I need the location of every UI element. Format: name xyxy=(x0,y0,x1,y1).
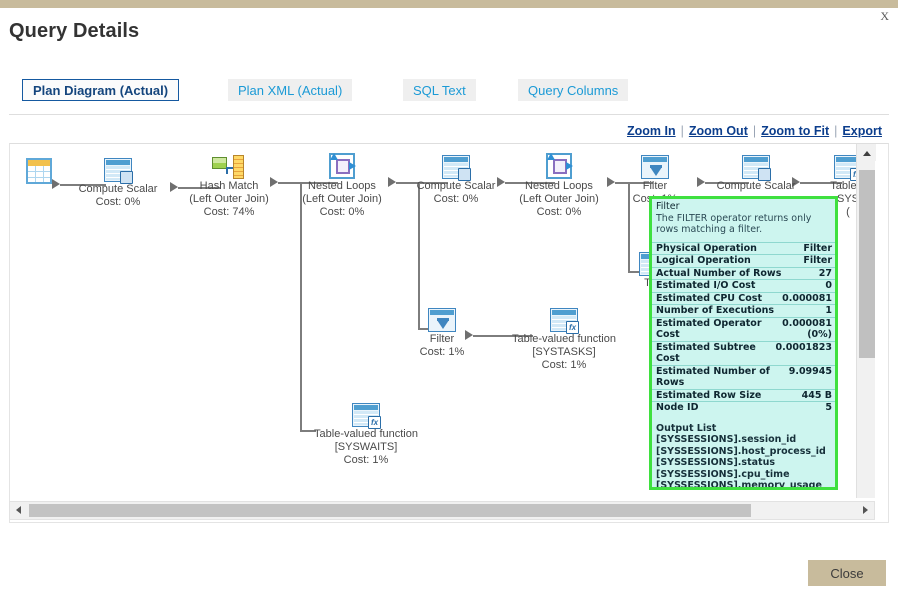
horizontal-scrollbar[interactable] xyxy=(9,501,875,520)
tooltip-metric-row: Estimated Row Size445 B xyxy=(652,389,835,402)
metric-label: Number of Executions xyxy=(656,305,774,317)
metric-label: Logical Operation xyxy=(656,255,751,267)
metric-value: 0.0001823 xyxy=(776,342,833,365)
metric-value: 445 B xyxy=(802,390,832,402)
tab-sql-text[interactable]: SQL Text xyxy=(403,79,476,101)
page-title: Query Details xyxy=(9,20,139,43)
operator-tooltip: Filter The FILTER operator returns only … xyxy=(649,196,838,490)
metric-label: Actual Number of Rows xyxy=(656,268,781,280)
tab-label: Query Columns xyxy=(528,83,618,98)
node-cost: Cost: 1% xyxy=(382,346,502,359)
plan-node-nested-loops-1[interactable]: Nested Loops (Left Outer Join) Cost: 0% xyxy=(282,149,402,219)
node-icon-wrap: fx xyxy=(296,397,436,427)
node-title: Hash Match xyxy=(169,180,289,193)
metric-value: 5 xyxy=(825,402,832,414)
export-link[interactable]: Export xyxy=(838,124,886,138)
compute-scalar-icon xyxy=(442,155,470,179)
hash-match-icon xyxy=(212,155,246,179)
node-title: Compute Scalar xyxy=(396,180,516,193)
node-cost: Cost: 0% xyxy=(58,196,178,209)
tooltip-metric-row: Actual Number of Rows27 xyxy=(652,267,835,280)
vertical-scrollbar[interactable] xyxy=(856,144,875,498)
metric-value: 1 xyxy=(825,305,832,317)
metric-label: Estimated Operator Cost xyxy=(656,318,767,341)
node-subtitle: [SYSTASKS] xyxy=(494,346,634,359)
zoom-out-link[interactable]: Zoom Out xyxy=(685,124,752,138)
node-icon-wrap xyxy=(382,302,502,332)
filter-icon xyxy=(428,308,456,332)
tab-query-columns[interactable]: Query Columns xyxy=(518,79,628,101)
tooltip-metrics: Physical OperationFilter Logical Operati… xyxy=(652,242,835,414)
window-accent-bar xyxy=(0,0,898,8)
node-title: Table-valued function xyxy=(494,333,634,346)
node-icon-wrap xyxy=(282,149,402,179)
table-valued-function-icon: fx xyxy=(550,308,578,332)
node-subtitle: (Left Outer Join) xyxy=(169,193,289,206)
tooltip-metric-row: Estimated I/O Cost0 xyxy=(652,279,835,292)
tooltip-metric-row: Physical OperationFilter xyxy=(652,242,835,255)
metric-label: Estimated I/O Cost xyxy=(656,280,755,292)
metric-label: Estimated Number of Rows xyxy=(656,366,789,389)
zoom-to-fit-link[interactable]: Zoom to Fit xyxy=(757,124,833,138)
close-icon[interactable]: X xyxy=(880,10,889,22)
compute-scalar-icon xyxy=(742,155,770,179)
tooltip-metric-row: Number of Executions1 xyxy=(652,304,835,317)
connector xyxy=(300,182,302,431)
scroll-right-arrow-icon[interactable] xyxy=(857,502,874,519)
metric-label: Estimated CPU Cost xyxy=(656,293,762,305)
metric-label: Node ID xyxy=(656,402,698,414)
plan-node-filter-2[interactable]: Filter Cost: 1% xyxy=(382,302,502,359)
metric-value: 0 xyxy=(825,280,832,292)
nested-loops-icon xyxy=(329,153,355,179)
node-icon-wrap xyxy=(58,152,178,182)
metric-value: 27 xyxy=(819,268,832,280)
tooltip-metric-row: Node ID5 xyxy=(652,401,835,414)
tooltip-output-item: [SYSSESSIONS].host_process_id xyxy=(652,446,835,458)
node-icon-wrap xyxy=(169,149,289,179)
node-cost: Cost: 0% xyxy=(282,206,402,219)
tooltip-output-item: [SYSSESSIONS].status xyxy=(652,457,835,469)
diagram-toolbar: Zoom In | Zoom Out | Zoom to Fit | Expor… xyxy=(623,124,886,138)
nested-loops-icon xyxy=(546,153,572,179)
tab-divider xyxy=(9,114,889,115)
tooltip-metric-row: Estimated CPU Cost0.000081 xyxy=(652,292,835,305)
node-cost: Cost: 0% xyxy=(396,193,516,206)
tooltip-description: The FILTER operator returns only rows ma… xyxy=(652,213,835,238)
plan-node-table-valued-function-systasks[interactable]: fx Table-valued function [SYSTASKS] Cost… xyxy=(494,302,634,372)
node-title: Table-valued function xyxy=(296,428,436,441)
node-icon-wrap xyxy=(396,149,516,179)
plan-node-hash-match[interactable]: Hash Match (Left Outer Join) Cost: 74% xyxy=(169,149,289,219)
scroll-up-arrow-icon[interactable] xyxy=(857,144,876,161)
node-icon-wrap: fx xyxy=(494,302,634,332)
node-subtitle: (Left Outer Join) xyxy=(282,193,402,206)
tooltip-output-list-title: Output List xyxy=(652,423,835,435)
tooltip-title: Filter xyxy=(652,200,835,213)
node-title: Compute Scalar xyxy=(58,183,178,196)
node-title: Filter xyxy=(382,333,502,346)
zoom-in-link[interactable]: Zoom In xyxy=(623,124,680,138)
filter-icon xyxy=(641,155,669,179)
metric-value: 9.09945 xyxy=(789,366,832,389)
tooltip-metric-row: Estimated Number of Rows9.09945 xyxy=(652,365,835,389)
node-cost: Cost: 1% xyxy=(296,454,436,467)
tab-bar: Plan Diagram (Actual) Plan XML (Actual) … xyxy=(0,79,898,101)
scroll-left-arrow-icon[interactable] xyxy=(10,502,27,519)
plan-node-compute-scalar-2[interactable]: Compute Scalar Cost: 0% xyxy=(396,149,516,206)
plan-node-table-valued-function-syswaits[interactable]: fx Table-valued function [SYSWAITS] Cost… xyxy=(296,397,436,467)
node-cost: Cost: 1% xyxy=(494,359,634,372)
result-grid-icon xyxy=(26,158,52,184)
node-cost: Cost: 0% xyxy=(499,206,619,219)
node-cost: Cost: 74% xyxy=(169,206,289,219)
close-button[interactable]: Close xyxy=(808,560,886,586)
plan-node-compute-scalar-1[interactable]: Compute Scalar Cost: 0% xyxy=(58,152,178,209)
tab-label: Plan XML (Actual) xyxy=(238,83,342,98)
metric-value: Filter xyxy=(803,255,832,267)
tab-plan-diagram[interactable]: Plan Diagram (Actual) xyxy=(22,79,179,101)
tooltip-metric-row: Estimated Operator Cost0.000081 (0%) xyxy=(652,317,835,341)
tab-plan-xml[interactable]: Plan XML (Actual) xyxy=(228,79,352,101)
metric-label: Estimated Subtree Cost xyxy=(656,342,776,365)
tooltip-output-item: [SYSSESSIONS].cpu_time xyxy=(652,469,835,481)
horizontal-scrollbar-thumb[interactable] xyxy=(29,504,751,517)
tooltip-output-item: [SYSSESSIONS].memory_usage xyxy=(652,480,835,490)
metric-value: 0.000081 (0%) xyxy=(767,318,832,341)
metric-value: 0.000081 xyxy=(782,293,832,305)
tooltip-output-item: [SYSSESSIONS].session_id xyxy=(652,434,835,446)
node-title: Nested Loops xyxy=(282,180,402,193)
tab-label: SQL Text xyxy=(413,83,466,98)
vertical-scrollbar-thumb[interactable] xyxy=(859,170,875,358)
metric-value: Filter xyxy=(803,243,832,255)
compute-scalar-icon xyxy=(104,158,132,182)
tooltip-metric-row: Logical OperationFilter xyxy=(652,254,835,267)
tooltip-metric-row: Estimated Subtree Cost0.0001823 xyxy=(652,341,835,365)
node-subtitle: [SYSWAITS] xyxy=(296,441,436,454)
metric-label: Physical Operation xyxy=(656,243,757,255)
tab-label: Plan Diagram (Actual) xyxy=(33,83,168,98)
metric-label: Estimated Row Size xyxy=(656,390,761,402)
table-valued-function-icon: fx xyxy=(352,403,380,427)
